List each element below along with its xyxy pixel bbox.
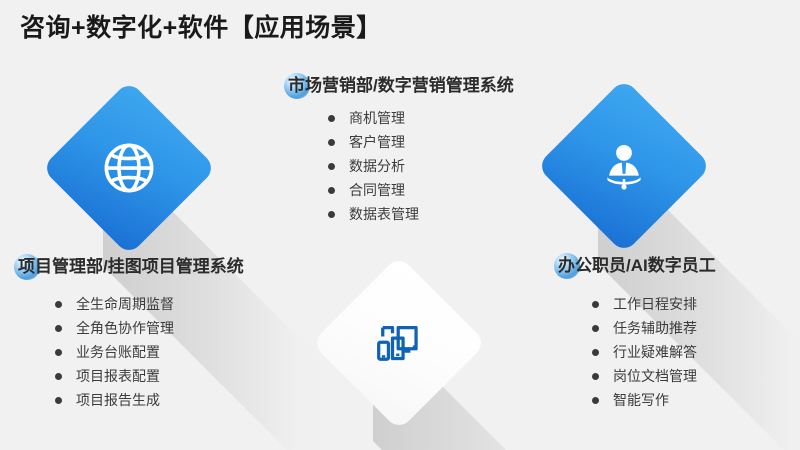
list-item-label: 智能写作 <box>613 390 669 410</box>
multi-device-icon <box>373 317 425 369</box>
list-item-label: 工作日程安排 <box>613 294 697 314</box>
bullet-icon <box>592 373 599 380</box>
list-item: 全角色协作管理 <box>55 316 174 340</box>
bullet-icon <box>592 349 599 356</box>
list-item-label: 业务台账配置 <box>76 342 160 362</box>
list-item-label: 数据表管理 <box>349 204 419 224</box>
bullet-icon <box>328 163 335 170</box>
list-item-label: 行业疑难解答 <box>613 342 697 362</box>
list-item: 数据表管理 <box>328 202 419 226</box>
list-item-label: 任务辅助推荐 <box>613 318 697 338</box>
bullet-icon <box>328 187 335 194</box>
feature-list-office: 工作日程安排 任务辅助推荐 行业疑难解答 岗位文档管理 智能写作 <box>592 292 697 412</box>
bullet-icon <box>55 397 62 404</box>
list-item: 客户管理 <box>328 130 419 154</box>
list-item: 项目报表配置 <box>55 364 174 388</box>
bullet-icon <box>592 397 599 404</box>
list-item-label: 数据分析 <box>349 156 405 176</box>
list-item: 业务台账配置 <box>55 340 174 364</box>
bullet-icon <box>55 325 62 332</box>
group-heading-label: 市场营销部/数字营销管理系统 <box>288 76 514 95</box>
list-item-label: 合同管理 <box>349 180 405 200</box>
group-heading-marketing: 市场营销部/数字营销管理系统 <box>288 75 514 97</box>
list-item: 行业疑难解答 <box>592 340 697 364</box>
group-heading-label: 项目管理部/挂图项目管理系统 <box>18 257 244 276</box>
list-item-label: 项目报告生成 <box>76 390 160 410</box>
list-item: 全生命周期监督 <box>55 292 174 316</box>
list-item-label: 全角色协作管理 <box>76 318 174 338</box>
feature-list-marketing: 商机管理 客户管理 数据分析 合同管理 数据表管理 <box>328 106 419 226</box>
list-item: 工作日程安排 <box>592 292 697 316</box>
list-item-label: 客户管理 <box>349 132 405 152</box>
list-item: 项目报告生成 <box>55 388 174 412</box>
globe-icon <box>100 139 158 197</box>
bullet-icon <box>328 139 335 146</box>
bullet-icon <box>55 301 62 308</box>
list-item: 数据分析 <box>328 154 419 178</box>
bullet-icon <box>328 115 335 122</box>
list-item-label: 全生命周期监督 <box>76 294 174 314</box>
list-item: 智能写作 <box>592 388 697 412</box>
feature-list-project: 全生命周期监督 全角色协作管理 业务台账配置 项目报表配置 项目报告生成 <box>55 292 174 412</box>
bullet-icon <box>592 325 599 332</box>
list-item-label: 项目报表配置 <box>76 366 160 386</box>
group-heading-label: 办公职员/AI数字员工 <box>558 256 716 275</box>
list-item-label: 商机管理 <box>349 108 405 128</box>
office-worker-icon <box>596 138 652 194</box>
diamond-tile-multi-device <box>337 281 461 405</box>
bullet-icon <box>328 211 335 218</box>
group-heading-office: 办公职员/AI数字员工 <box>558 255 716 277</box>
group-heading-project: 项目管理部/挂图项目管理系统 <box>18 256 244 278</box>
bullet-icon <box>592 301 599 308</box>
bullet-icon <box>55 373 62 380</box>
slide-canvas: 咨询+数字化+软件【应用场景】 <box>0 0 800 450</box>
diamond-tile-office-worker <box>562 104 686 228</box>
bullet-icon <box>55 349 62 356</box>
list-item: 合同管理 <box>328 178 419 202</box>
page-title: 咨询+数字化+软件【应用场景】 <box>20 8 382 44</box>
list-item: 商机管理 <box>328 106 419 130</box>
list-item: 岗位文档管理 <box>592 364 697 388</box>
list-item-label: 岗位文档管理 <box>613 366 697 386</box>
list-item: 任务辅助推荐 <box>592 316 697 340</box>
diamond-tile-globe <box>67 106 191 230</box>
